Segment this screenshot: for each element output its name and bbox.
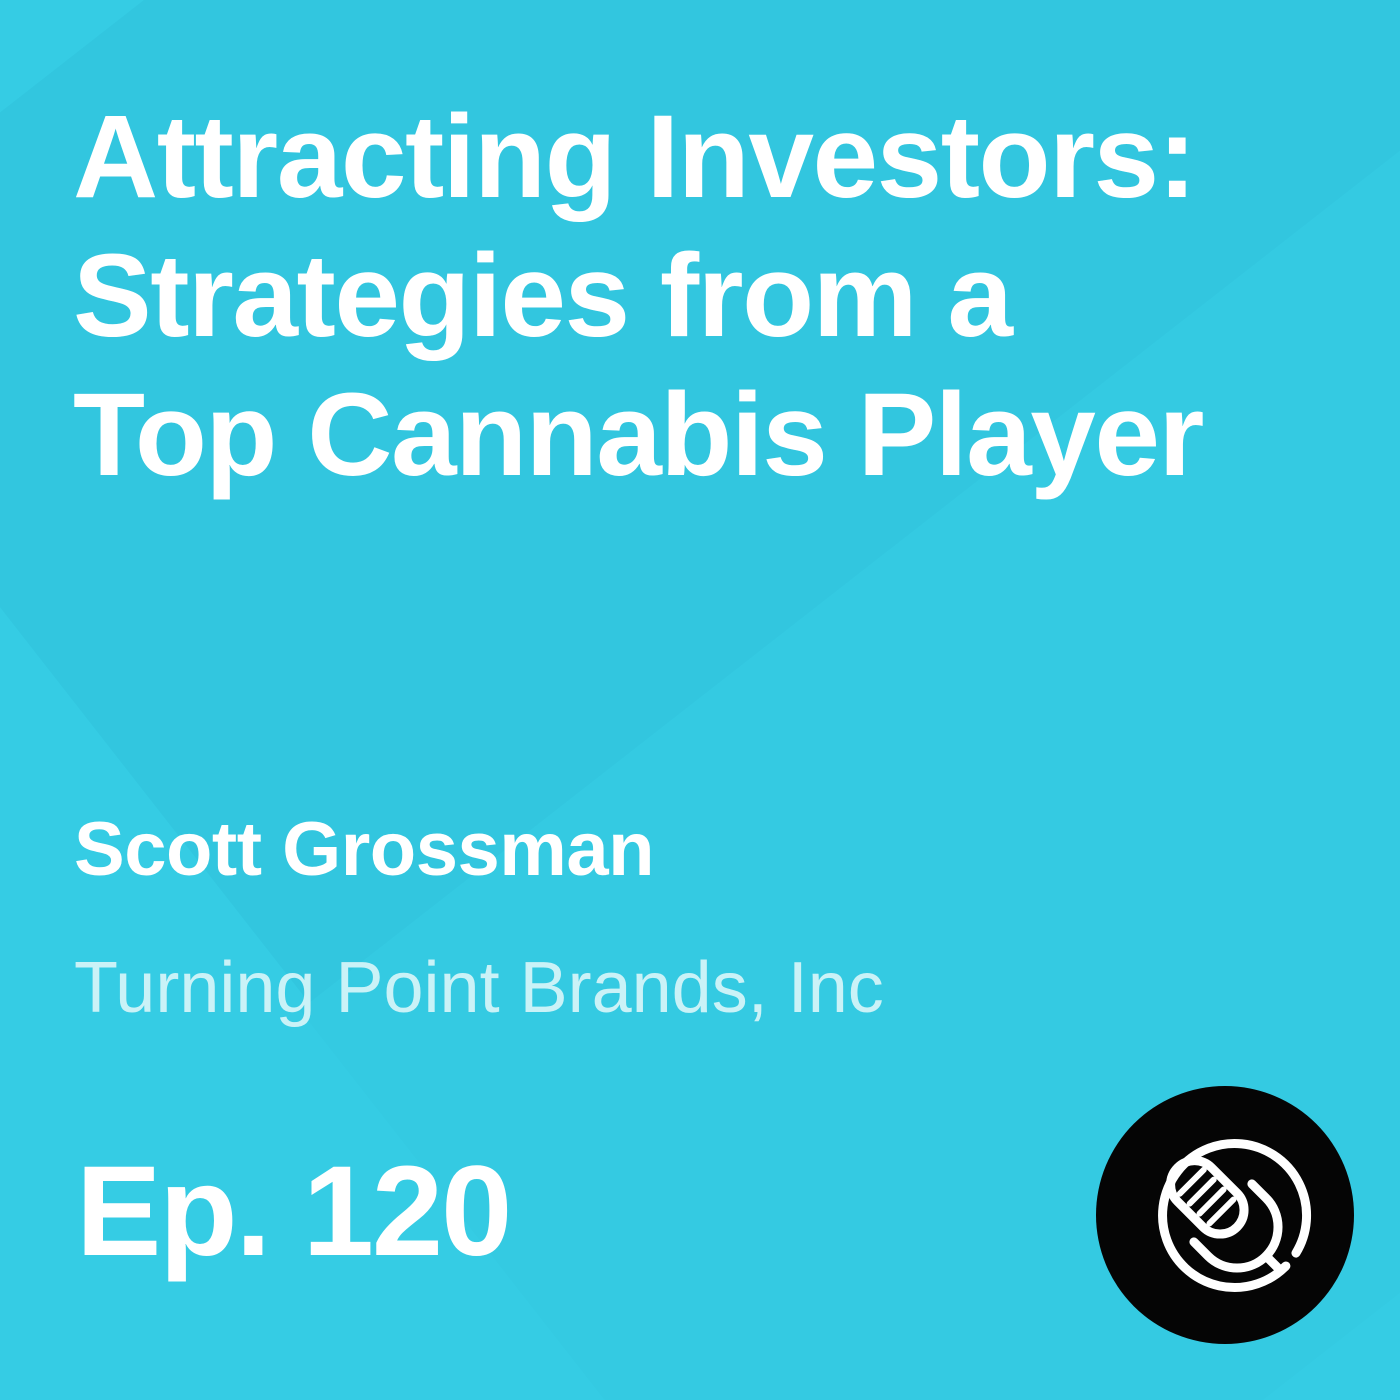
podcast-episode-cover: Attracting Investors: Strategies from a … [0,0,1400,1400]
episode-number-label: Ep. 120 [76,1148,510,1276]
episode-title: Attracting Investors: Strategies from a … [73,88,1363,506]
episode-title-line-3: Top Cannabis Player [73,369,1203,501]
cover-content: Attracting Investors: Strategies from a … [0,0,1400,1400]
speaker-block: Scott Grossman Turning Point Brands, Inc [74,812,1274,1024]
podcast-logo-badge [1096,1086,1354,1344]
speaker-organization: Turning Point Brands, Inc [74,952,1274,1024]
episode-title-line-1: Attracting Investors: [73,91,1195,223]
microphone-in-circle-icon [1096,1086,1354,1344]
speaker-name: Scott Grossman [74,812,1274,888]
episode-title-line-2: Strategies from a [73,230,1012,362]
